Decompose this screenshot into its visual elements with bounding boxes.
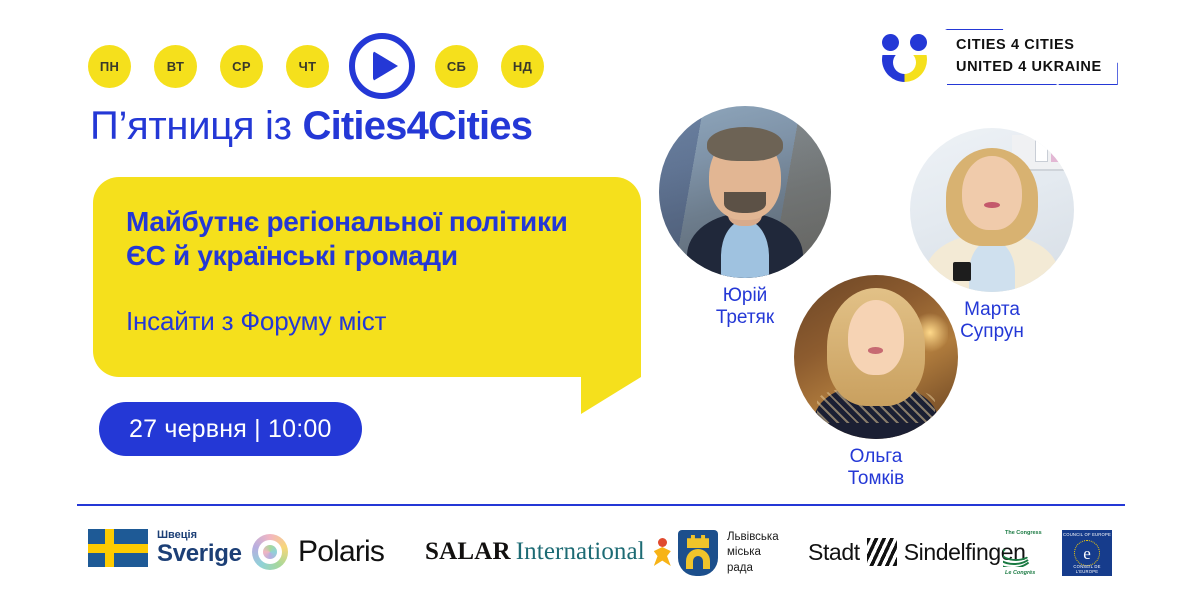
sindelfingen-stripes-icon xyxy=(867,538,897,566)
sindelfingen-stadt-label: Stadt xyxy=(808,539,860,566)
topic-speech-bubble: Майбутнє регіональної політики ЄС й укра… xyxy=(93,177,641,377)
cities4cities-logo: CITIES 4 CITIES UNITED 4 UKRAINE xyxy=(880,28,1116,84)
salar-international-logo: SALAR International xyxy=(425,538,671,566)
congress-logo: The Congress Le Congrès xyxy=(1003,530,1055,576)
day-circle-sun: НД xyxy=(501,45,544,88)
logo-eye-right xyxy=(910,34,927,51)
lviv-line-2: міська xyxy=(727,545,779,560)
salar-icon-body xyxy=(654,547,671,566)
speaker-avatar-2 xyxy=(910,128,1074,292)
day-label: ВТ xyxy=(167,59,184,74)
topic-subtitle: Інсайти з Форуму міст xyxy=(126,306,611,337)
logo-smile xyxy=(882,55,927,82)
day-label: СБ xyxy=(447,59,466,74)
speaker-photo-1 xyxy=(659,106,831,278)
day-label: НД xyxy=(513,59,532,74)
play-icon xyxy=(373,51,398,81)
photo-face xyxy=(962,156,1021,230)
speaker-avatar-1 xyxy=(659,106,831,278)
sweden-logo: Швеція Sverige xyxy=(88,529,242,567)
day-circle-sat: СБ xyxy=(435,45,478,88)
headline-brand: Cities4Cities xyxy=(302,104,532,148)
speaker-avatar-3 xyxy=(794,275,958,439)
day-circle-wed: СР xyxy=(220,45,263,88)
photo-book-1 xyxy=(1035,139,1048,162)
page-title: П’ятниця із Cities4Cities xyxy=(90,104,532,149)
lviv-line-1: Львівська xyxy=(727,530,779,545)
congress-label-fr: Le Congrès xyxy=(1005,570,1035,576)
headline-prefix: П’ятниця із xyxy=(90,104,302,148)
stadt-sindelfingen-logo: Stadt Sindelfingen xyxy=(808,538,1026,566)
lviv-gate xyxy=(686,549,710,569)
date-time-label: 27 червня | 10:00 xyxy=(129,415,332,444)
salar-international-wordmark: International xyxy=(516,538,645,566)
day-label: ПН xyxy=(100,59,119,74)
salar-icon-head xyxy=(658,538,667,547)
topic-title: Майбутнє регіональної політики ЄС й укра… xyxy=(126,205,611,274)
sweden-wordmark: Швеція Sverige xyxy=(157,529,242,566)
webinar-announcement-poster: ПН ВТ СР ЧТ СБ НД П’ятниця із Cities4Cit… xyxy=(0,0,1200,600)
speaker-last-name: Томків xyxy=(786,468,966,490)
swedish-flag-icon xyxy=(88,529,148,567)
date-time-badge: 27 червня | 10:00 xyxy=(99,402,362,456)
speaker-name-3: Ольга Томків xyxy=(786,446,966,491)
speaker-first-name: Ольга xyxy=(786,446,966,468)
weekday-strip: ПН ВТ СР ЧТ СБ НД xyxy=(88,33,544,99)
logo-wordmark: CITIES 4 CITIES UNITED 4 UKRAINE xyxy=(944,29,1116,84)
day-circle-tue: ВТ xyxy=(154,45,197,88)
photo-face xyxy=(848,300,904,375)
polaris-wordmark: Polaris xyxy=(298,535,384,569)
lviv-city-council-logo: Львівська міська рада xyxy=(678,530,779,576)
footer-divider xyxy=(77,504,1125,506)
lviv-coat-of-arms-icon xyxy=(678,530,718,576)
day-label: СР xyxy=(232,59,251,74)
congress-label-en: The Congress xyxy=(1005,530,1042,536)
salar-wordmark: SALAR xyxy=(425,538,511,566)
partner-logos: Швеція Sverige Polaris SALAR Internation… xyxy=(0,516,1200,596)
photo-hair xyxy=(707,127,783,161)
day-circle-mon: ПН xyxy=(88,45,131,88)
day-circle-thu: ЧТ xyxy=(286,45,329,88)
smiley-u-icon xyxy=(880,28,932,84)
coe-label-fr: CONSEIL DE L'EUROPE xyxy=(1062,564,1112,574)
polaris-spiral-icon xyxy=(252,534,288,570)
sweden-label-sv: Sverige xyxy=(157,541,242,566)
lviv-wordmark: Львівська міська рада xyxy=(727,530,779,576)
lviv-line-3: рада xyxy=(727,561,779,576)
congress-curves-icon xyxy=(1003,539,1055,567)
lviv-tower xyxy=(687,535,709,548)
coe-e-icon: e xyxy=(1074,540,1100,566)
play-button[interactable] xyxy=(349,33,415,99)
logo-eye-left xyxy=(882,34,899,51)
council-of-europe-logos: The Congress Le Congrès COUNCIL OF EUROP… xyxy=(1003,530,1112,576)
speaker-photo-3 xyxy=(794,275,958,439)
day-label: ЧТ xyxy=(299,59,317,74)
speaker-card-3: Ольга Томків xyxy=(786,275,966,491)
logo-line-1: CITIES 4 CITIES xyxy=(956,34,1102,56)
council-of-europe-emblem: COUNCIL OF EUROPE e CONSEIL DE L'EUROPE xyxy=(1062,530,1112,576)
salar-person-icon xyxy=(654,538,671,566)
polaris-logo: Polaris xyxy=(252,534,384,570)
logo-line-2: UNITED 4 UKRAINE xyxy=(956,56,1102,78)
photo-book-2 xyxy=(1051,139,1064,162)
photo-beard xyxy=(724,192,765,213)
photo-lips xyxy=(868,347,883,354)
coe-label-en: COUNCIL OF EUROPE xyxy=(1062,532,1112,537)
speaker-photo-2 xyxy=(910,128,1074,292)
